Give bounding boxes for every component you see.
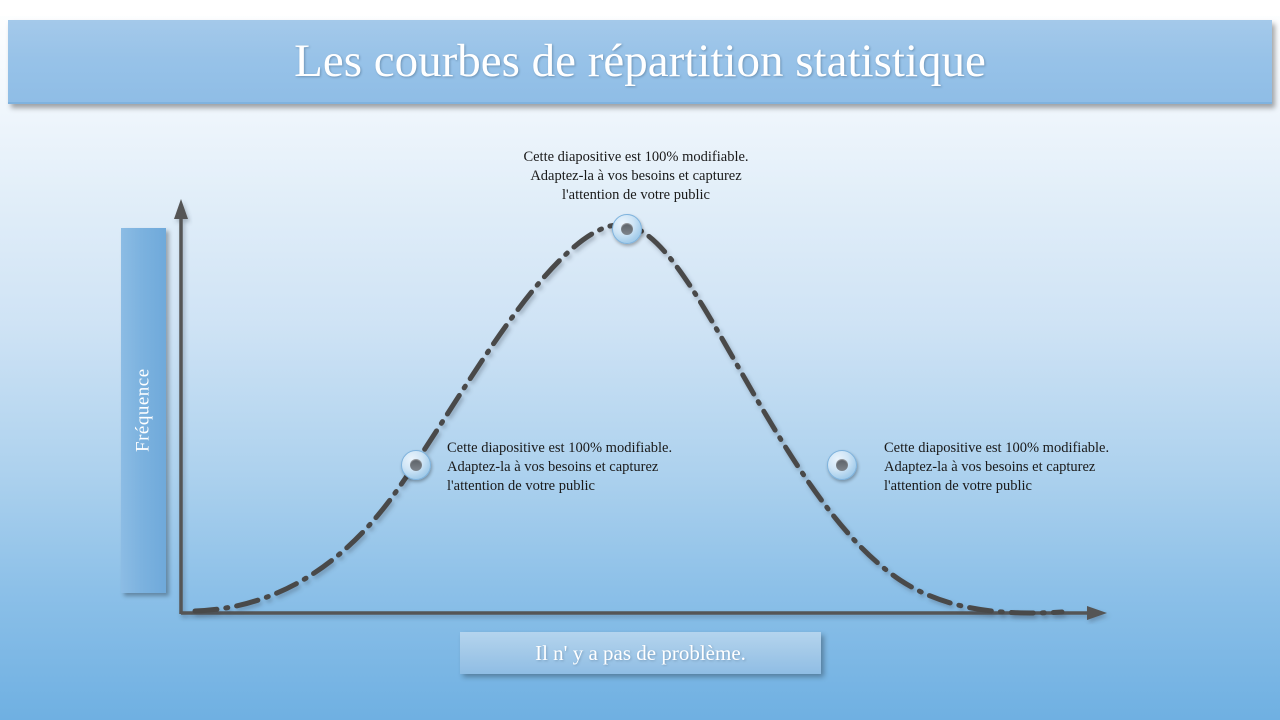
chart-axes-and-curve	[0, 0, 1280, 720]
caption-box: Il n' y a pas de problème.	[460, 632, 821, 674]
peak-marker-icon[interactable]	[612, 214, 642, 244]
y-axis	[174, 199, 188, 614]
caption-text: Il n' y a pas de problème.	[460, 632, 821, 674]
annotation-right: Cette diapositive est 100% modifiable. A…	[884, 439, 1136, 496]
distribution-curve	[195, 225, 1062, 613]
annotation-left: Cette diapositive est 100% modifiable. A…	[447, 439, 699, 496]
left-inflection-marker-icon[interactable]	[401, 450, 431, 480]
right-inflection-marker-icon[interactable]	[827, 450, 857, 480]
annotation-top: Cette diapositive est 100% modifiable. A…	[508, 148, 764, 205]
slide-canvas: Les courbes de répartition statistique F…	[0, 0, 1280, 720]
